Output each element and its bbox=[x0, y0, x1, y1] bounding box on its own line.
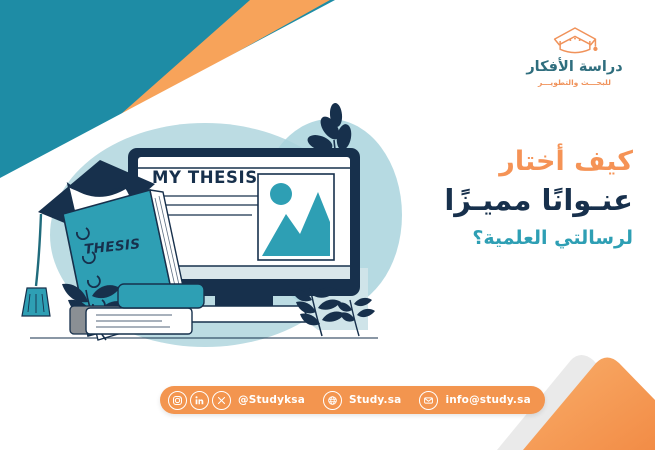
graduation-cap-icon bbox=[549, 24, 601, 58]
brand-logo[interactable]: دراسة الأفكار للبحـــث والتطويـــر bbox=[522, 24, 627, 87]
footer-contact-bar: @Studyksa Study.sa info@study.sa bbox=[160, 386, 545, 414]
footer-email[interactable]: info@study.sa bbox=[445, 394, 530, 406]
footer-group-email: info@study.sa bbox=[419, 391, 530, 410]
headline-line-3: لرسالتي العلمية؟ bbox=[363, 226, 633, 251]
logo-subtitle: للبحـــث والتطويـــر bbox=[522, 78, 627, 87]
corner-leaves-topleft bbox=[276, 107, 296, 119]
x-twitter-icon[interactable] bbox=[212, 391, 231, 410]
headline-line-2: عنـوانًا مميـزًا bbox=[363, 183, 633, 219]
footer-handle[interactable]: @Studyksa bbox=[238, 394, 305, 406]
screen-title-my-thesis: MY THESIS bbox=[152, 168, 258, 187]
promo-banner: MY THESIS THESIS دراسة الأفكار للبحـــث … bbox=[0, 0, 655, 450]
globe-icon[interactable] bbox=[323, 391, 342, 410]
tassel-bead bbox=[593, 47, 597, 51]
instagram-icon[interactable] bbox=[168, 391, 187, 410]
headline-block: كيف أختار عنـوانًا مميـزًا لرسالتي العلم… bbox=[363, 146, 633, 251]
linkedin-icon[interactable] bbox=[190, 391, 209, 410]
monitor-neck bbox=[215, 296, 273, 306]
logo-title: دراسة الأفكار bbox=[522, 60, 627, 76]
headline-line-1: كيف أختار bbox=[363, 146, 633, 179]
footer-website[interactable]: Study.sa bbox=[349, 394, 401, 406]
footer-group-website: Study.sa bbox=[323, 391, 419, 410]
sun-circle bbox=[270, 183, 292, 205]
envelope-icon[interactable] bbox=[419, 391, 438, 410]
footer-group-social: @Studyksa bbox=[168, 391, 323, 410]
